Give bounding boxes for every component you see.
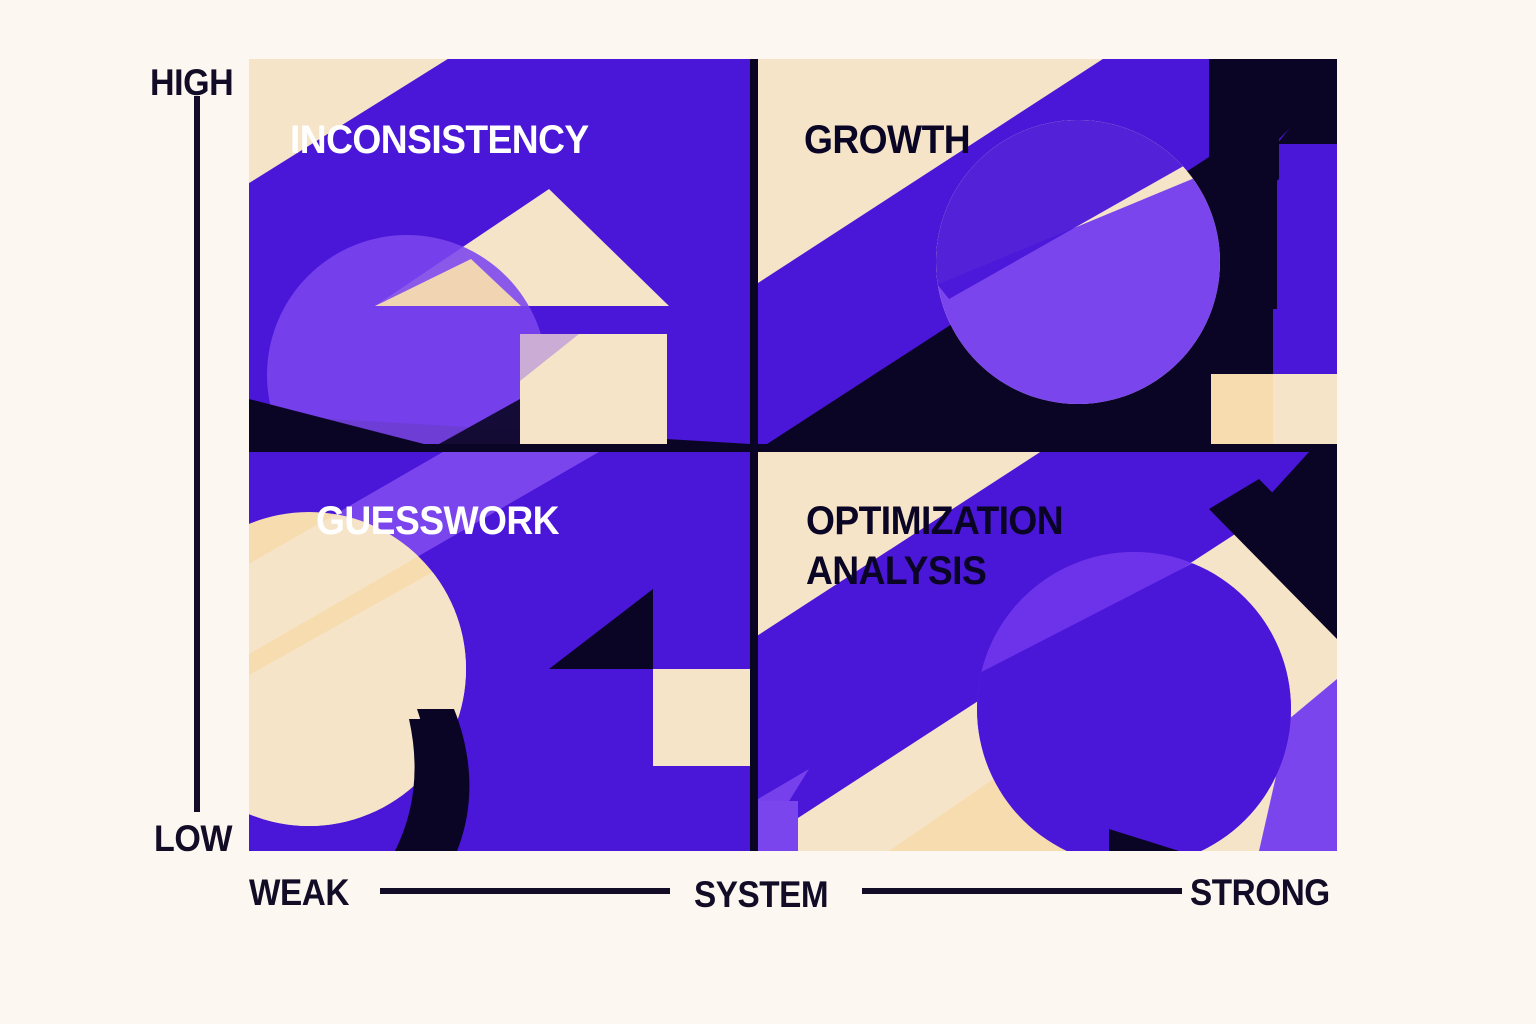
- x-axis-line-right: [862, 888, 1182, 894]
- x-axis-title: SYSTEM: [694, 874, 828, 916]
- quadrant-matrix: [249, 59, 1337, 851]
- y-axis-line: [194, 96, 200, 812]
- horizontal-divider: [249, 444, 1337, 452]
- x-axis-low-label: WEAK: [249, 872, 349, 914]
- matrix-artwork-svg: [249, 59, 1337, 851]
- y-axis-high-label: HIGH: [150, 62, 233, 104]
- poster-canvas: HIGH LOW WEAK SYSTEM STRONG: [0, 0, 1536, 1024]
- y-axis-low-label: LOW: [154, 818, 232, 860]
- x-axis-line-left: [380, 888, 670, 894]
- vertical-divider: [750, 59, 758, 851]
- x-axis-high-label: STRONG: [1190, 872, 1330, 914]
